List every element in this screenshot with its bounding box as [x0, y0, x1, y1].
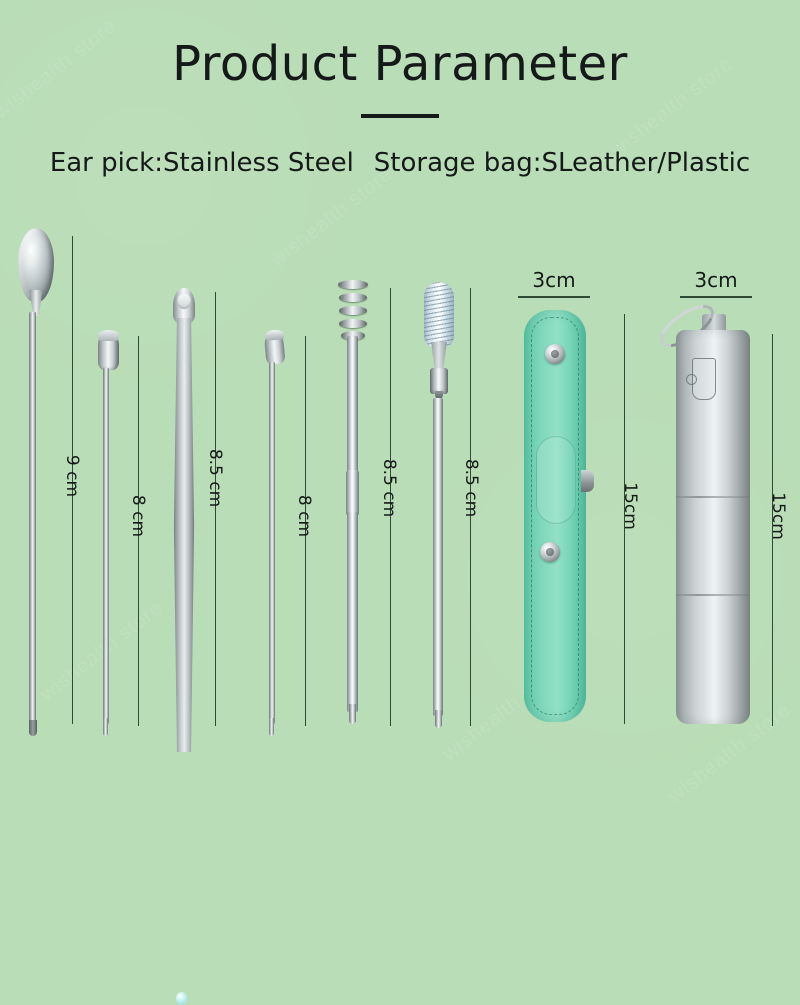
brush-ferrule [430, 368, 448, 394]
watermark: wishealth store [267, 163, 398, 272]
dimension-label-8_5cm: 8.5 cm [205, 443, 225, 513]
coil-ring [339, 293, 367, 302]
tube-body [676, 330, 750, 724]
product-parameter-infographic: wishealth store wishealth store wishealt… [0, 0, 800, 800]
tool-tip [435, 710, 442, 728]
dimension-label-8cm-2: 8 cm [294, 492, 314, 540]
pouch-flap-panel [536, 436, 576, 524]
coil-head [339, 280, 367, 344]
tube-seam-upper [676, 496, 750, 498]
pouch-height-label: 15cm [620, 476, 640, 536]
brush-head [424, 282, 454, 348]
tool-shaft [433, 398, 443, 716]
pouch-snap-button-bottom [540, 542, 560, 562]
pouch-side-stud [581, 470, 594, 492]
tube-width-rule [680, 296, 752, 298]
spoon-cap [98, 330, 119, 341]
tube-seam-lower [676, 594, 750, 596]
tool-shaft-upper [347, 336, 358, 476]
dimension-label-8cm: 8 cm [128, 492, 148, 540]
coil-ring [339, 306, 367, 315]
tube-clip-dot [686, 374, 697, 385]
dimension-label-8_5cm-2: 8.5 cm [379, 453, 399, 523]
scoop-cap [265, 329, 285, 341]
tool-tip [103, 718, 108, 736]
tool-shaft [29, 312, 36, 728]
tube-height-label: 15cm [768, 486, 788, 546]
pouch-width-label: 3cm [516, 268, 592, 292]
gem-accent [176, 992, 187, 1005]
title-underline [361, 114, 439, 118]
material-subtitle: Ear pick:Stainless SteelStorage bag:SLea… [0, 148, 800, 178]
pouch-snap-button-top [545, 344, 565, 364]
leather-storage-pouch [524, 310, 586, 722]
coil-ring [338, 280, 368, 289]
tool-tip [349, 704, 356, 724]
dimension-label-8_5cm-3: 8.5 cm [461, 453, 481, 523]
tool-shaft-lower [347, 512, 358, 712]
tool-shaft [103, 368, 109, 724]
loop-ring [177, 293, 191, 309]
tool-tip [269, 718, 274, 736]
tool-shaft [269, 362, 275, 724]
ear-pick-material: Ear pick:Stainless Steel [50, 148, 354, 178]
tool-grip [346, 470, 359, 516]
tube-width-label: 3cm [678, 268, 754, 292]
blade-body [173, 318, 195, 752]
coil-ring [339, 319, 367, 328]
storage-bag-material: Storage bag:SLeather/Plastic [374, 148, 750, 178]
dimension-label-9cm: 9 cm [62, 452, 82, 500]
page-title: Product Parameter [0, 36, 800, 92]
pouch-width-rule [518, 296, 590, 298]
tool-tip [29, 720, 37, 736]
